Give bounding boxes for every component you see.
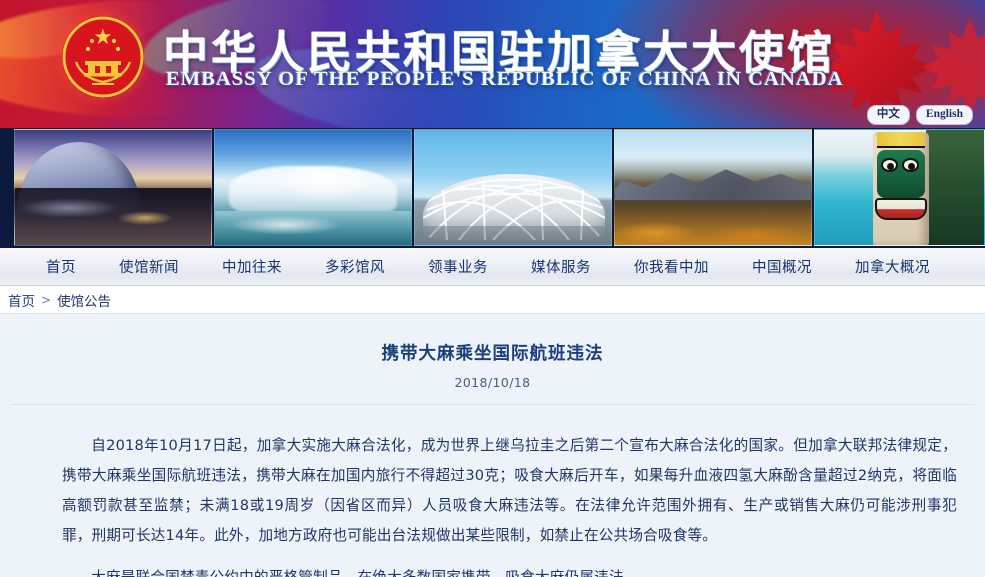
lang-button-chinese[interactable]: 中文 (867, 105, 910, 125)
nav-item-embassy-news[interactable]: 使馆新闻 (119, 256, 179, 277)
stadium-lattice (423, 174, 605, 240)
nav-item-consular-services[interactable]: 领事业务 (428, 256, 488, 277)
article-date: 2018/10/18 (0, 365, 985, 390)
china-national-emblem-icon (62, 16, 144, 98)
photo-ncpa-beijing[interactable] (14, 129, 212, 246)
forest-foliage (926, 130, 984, 245)
nav-item-about-canada[interactable]: 加拿大概况 (855, 256, 930, 277)
site-header-banner: 中华人民共和国驻加拿大大使馆 EMBASSY OF THE PEOPLE'S R… (0, 0, 985, 128)
nav-item-about-china[interactable]: 中国概况 (752, 256, 812, 277)
photo-great-wall-autumn[interactable] (614, 129, 812, 246)
photo-niagara-falls[interactable] (214, 129, 412, 246)
article-paragraph: 自2018年10月17日起，加拿大实施大麻合法化，成为世界上继乌拉圭之后第二个宣… (62, 431, 957, 551)
photo-birds-nest-stadium[interactable] (414, 129, 612, 246)
banner-photo-strip (0, 128, 985, 248)
nav-item-media-services[interactable]: 媒体服务 (531, 256, 591, 277)
lang-button-english[interactable]: English (916, 105, 973, 125)
language-switcher: 中文 English (867, 105, 973, 125)
totem-eye-left (881, 158, 898, 172)
canada-maple-leaf-secondary-icon (895, 10, 985, 120)
totem-wings (877, 132, 925, 148)
breadcrumb-separator: > (41, 293, 51, 307)
site-title-english: EMBASSY OF THE PEOPLE'S REPUBLIC OF CHIN… (166, 68, 844, 91)
breadcrumb-current[interactable]: 使馆公告 (57, 290, 111, 310)
photo-totem-pole[interactable] (814, 129, 985, 246)
nav-item-home[interactable]: 首页 (46, 256, 76, 277)
article-body: 自2018年10月17日起，加拿大实施大麻合法化，成为世界上继乌拉圭之后第二个宣… (0, 405, 985, 577)
nav-item-embassy-life[interactable]: 多彩馆风 (325, 256, 385, 277)
nav-item-views[interactable]: 你我看中加 (634, 256, 709, 277)
nav-item-china-canada-exchange[interactable]: 中加往来 (222, 256, 282, 277)
main-navigation: 首页 使馆新闻 中加往来 多彩馆风 领事业务 媒体服务 你我看中加 中国概况 加… (0, 248, 985, 286)
article-paragraph: 大麻是联合国禁毒公约中的严格管制品，在绝大多数国家携带、吸食大麻仍属违法。 (62, 563, 957, 577)
breadcrumb: 首页 > 使馆公告 (0, 286, 985, 314)
totem-beak (875, 198, 927, 220)
totem-carving (873, 132, 929, 246)
article-title: 携带大麻乘坐国际航班违法 (0, 314, 985, 365)
breadcrumb-home[interactable]: 首页 (8, 290, 35, 310)
totem-eye-right (902, 158, 919, 172)
totem-face (877, 150, 925, 198)
page-root: 中华人民共和国驻加拿大大使馆 EMBASSY OF THE PEOPLE'S R… (0, 0, 985, 577)
article-container: 携带大麻乘坐国际航班违法 2018/10/18 自2018年10月17日起，加拿… (0, 314, 985, 577)
